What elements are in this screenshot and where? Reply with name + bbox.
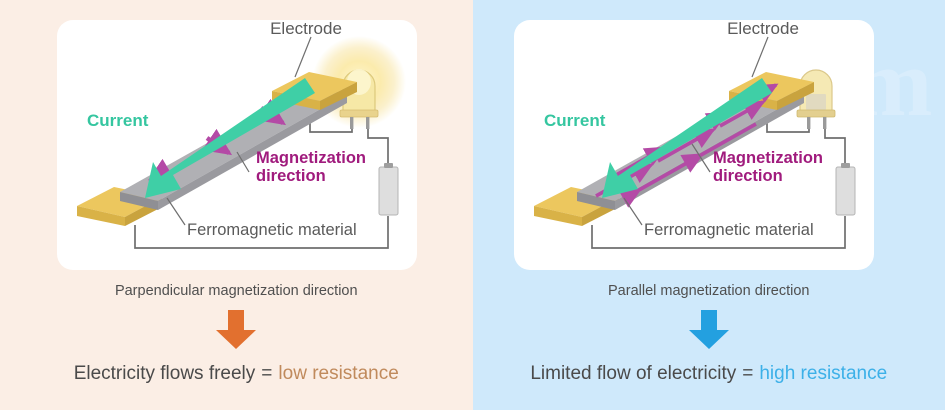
- caption-perpendicular: Parpendicular magnetization direction: [0, 283, 473, 299]
- leader-electrode: [752, 37, 768, 77]
- illustration-card-perpendicular: Electrode Current Magnetization directio…: [57, 20, 417, 270]
- leader-electrode: [295, 37, 311, 77]
- led-pin-left: [807, 117, 810, 129]
- resistor-component: [379, 163, 398, 215]
- illustration-perpendicular: Electrode Current Magnetization directio…: [57, 20, 417, 270]
- conclusion-parallel: Limited flow of electricity=high resista…: [473, 363, 945, 385]
- label-ferromagnetic: Ferromagnetic material: [187, 221, 357, 239]
- panel-perpendicular: G o l i: [0, 0, 473, 410]
- conclusion-result: low resistance: [278, 363, 398, 384]
- label-electrode: Electrode: [270, 20, 342, 38]
- resistor-component: [836, 163, 855, 215]
- transition-arrow-blue: [686, 310, 732, 355]
- conclusion-equals: =: [742, 363, 753, 384]
- leader-ferromagnetic: [624, 198, 642, 225]
- conclusion-equals: =: [261, 363, 272, 384]
- conclusion-result: high resistance: [759, 363, 887, 384]
- illustration-parallel: Electrode Current Magnetization directio…: [514, 20, 874, 270]
- led-pin-right: [366, 117, 369, 129]
- conclusion-text: Electricity flows freely: [74, 363, 256, 384]
- label-magnetization-line1: Magnetization: [256, 149, 366, 167]
- leader-ferromagnetic: [167, 198, 185, 225]
- label-magnetization-line2: direction: [713, 167, 783, 185]
- conclusion-text: Limited flow of electricity: [530, 363, 736, 384]
- conclusion-perpendicular: Electricity flows freely=low resistance: [0, 363, 473, 385]
- led-pin-left: [350, 117, 353, 129]
- label-ferromagnetic: Ferromagnetic material: [644, 221, 814, 239]
- label-magnetization-line2: direction: [256, 167, 326, 185]
- label-current: Current: [544, 111, 606, 130]
- led-pin-right: [823, 117, 826, 129]
- label-electrode: Electrode: [727, 20, 799, 38]
- label-current: Current: [87, 111, 149, 130]
- label-magnetization-line1: Magnetization: [713, 149, 823, 167]
- caption-parallel: Parallel magnetization direction: [473, 283, 945, 299]
- panel-parallel: k e . c o m: [473, 0, 945, 410]
- illustration-card-parallel: Electrode Current Magnetization directio…: [514, 20, 874, 270]
- diagram-root: G o l i: [0, 0, 945, 410]
- transition-arrow-orange: [213, 310, 259, 355]
